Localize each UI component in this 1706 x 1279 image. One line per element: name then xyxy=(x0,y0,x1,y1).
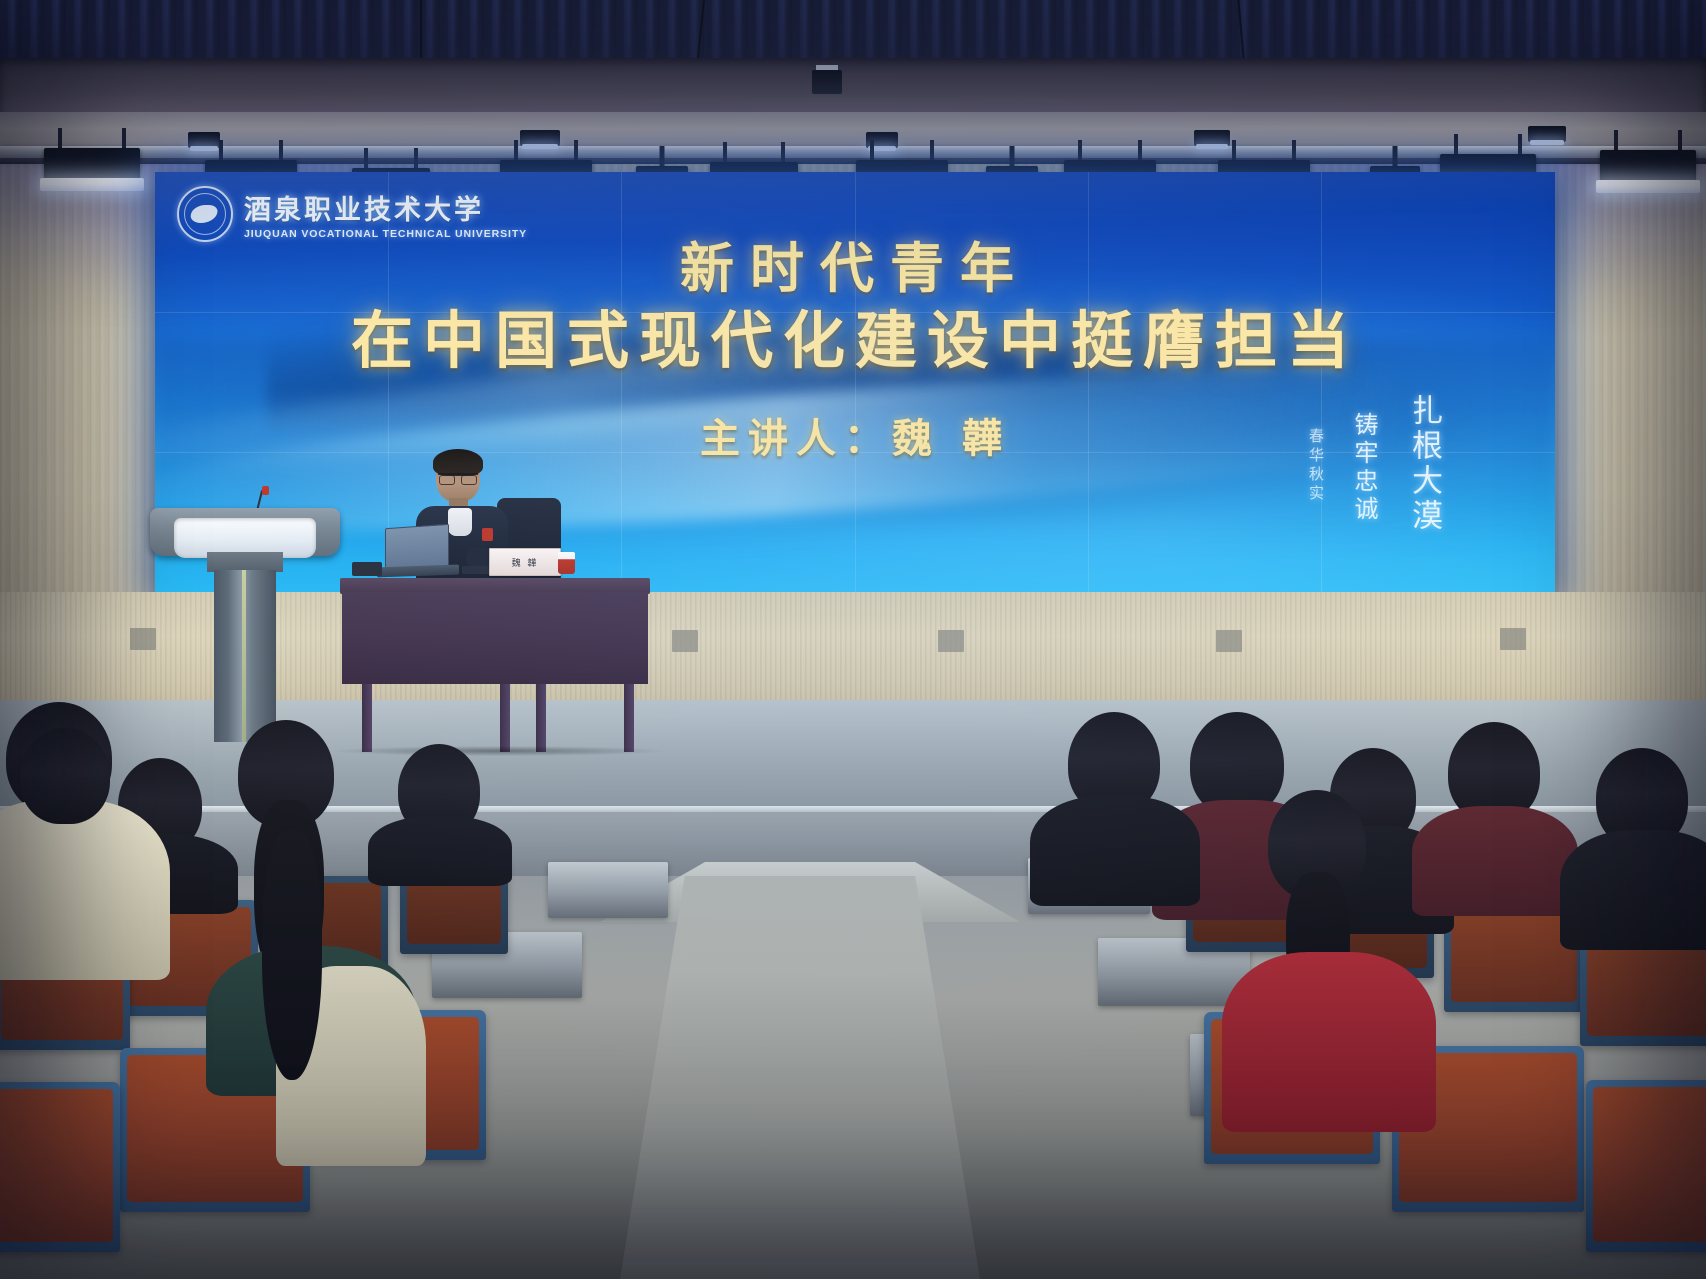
audience-shoulders xyxy=(1030,796,1200,906)
calligraphy-column-1: 扎根大漠 xyxy=(1402,394,1447,534)
ceiling-spot-fixture xyxy=(188,132,220,148)
university-name-cn: 酒泉职业技术大学 xyxy=(244,188,527,227)
ceiling-cable xyxy=(420,0,422,58)
audience-shoulders xyxy=(0,800,170,980)
slide-title-line2: 在中国式现代化建设中挺膺担当 xyxy=(155,290,1555,380)
audience-shoulders xyxy=(1560,830,1706,950)
presenter-nameplate: 魏 韡 xyxy=(489,548,561,576)
lecture-hall-photo: 酒泉职业技术大学 JIUQUAN VOCATIONAL TECHNICAL UN… xyxy=(0,0,1706,1279)
wall-vent xyxy=(1216,630,1242,652)
calligraphy-column-2: 铸牢忠诚 xyxy=(1347,412,1382,524)
calligraphy-column-3: 春华秋实 xyxy=(1306,428,1327,504)
podium-mic-head xyxy=(262,486,269,495)
audience-shoulders xyxy=(1222,952,1436,1132)
podium-neck xyxy=(207,552,283,572)
table-leg xyxy=(362,684,372,752)
table-shadow xyxy=(334,746,664,756)
ceiling-projector-mount xyxy=(812,70,842,94)
paper-cup xyxy=(558,552,575,574)
table-leg xyxy=(624,684,634,752)
seat-desk xyxy=(548,862,668,918)
audience-seat xyxy=(1586,1080,1706,1252)
ceiling-spot-fixture xyxy=(1194,130,1230,146)
podium-stem xyxy=(214,570,276,742)
led-video-wall: 酒泉职业技术大学 JIUQUAN VOCATIONAL TECHNICAL UN… xyxy=(155,172,1555,592)
ceiling-spot-fixture xyxy=(1528,126,1566,142)
nameplate-text: 魏 韡 xyxy=(512,556,539,569)
ceiling-curtain xyxy=(0,0,1706,62)
table-leg xyxy=(500,684,510,752)
audience-head xyxy=(20,728,110,824)
speaker-podium xyxy=(150,490,340,750)
wall-vent xyxy=(1500,628,1526,650)
glasses-icon xyxy=(438,473,478,483)
ceiling-soffit xyxy=(0,58,1706,118)
wall-vent xyxy=(938,630,964,652)
presenter-hair xyxy=(433,449,483,476)
table-leg xyxy=(536,684,546,752)
presenter-table xyxy=(340,578,650,753)
audio-control-box xyxy=(352,562,382,576)
table-skirt xyxy=(342,592,648,684)
presenter-lapel-badge xyxy=(482,528,493,541)
audience-seat xyxy=(0,1082,120,1252)
ceiling-spot-fixture xyxy=(520,130,560,146)
audience-ponytail xyxy=(262,830,322,1080)
slide-calligraphy: 春华秋实 铸牢忠诚 扎根大漠 xyxy=(1306,398,1447,534)
presenter-shirt xyxy=(448,508,472,536)
audience-shoulders xyxy=(368,816,512,886)
audience-shoulders xyxy=(1412,806,1578,916)
wall-vent xyxy=(672,630,698,652)
podium-top xyxy=(150,508,340,556)
